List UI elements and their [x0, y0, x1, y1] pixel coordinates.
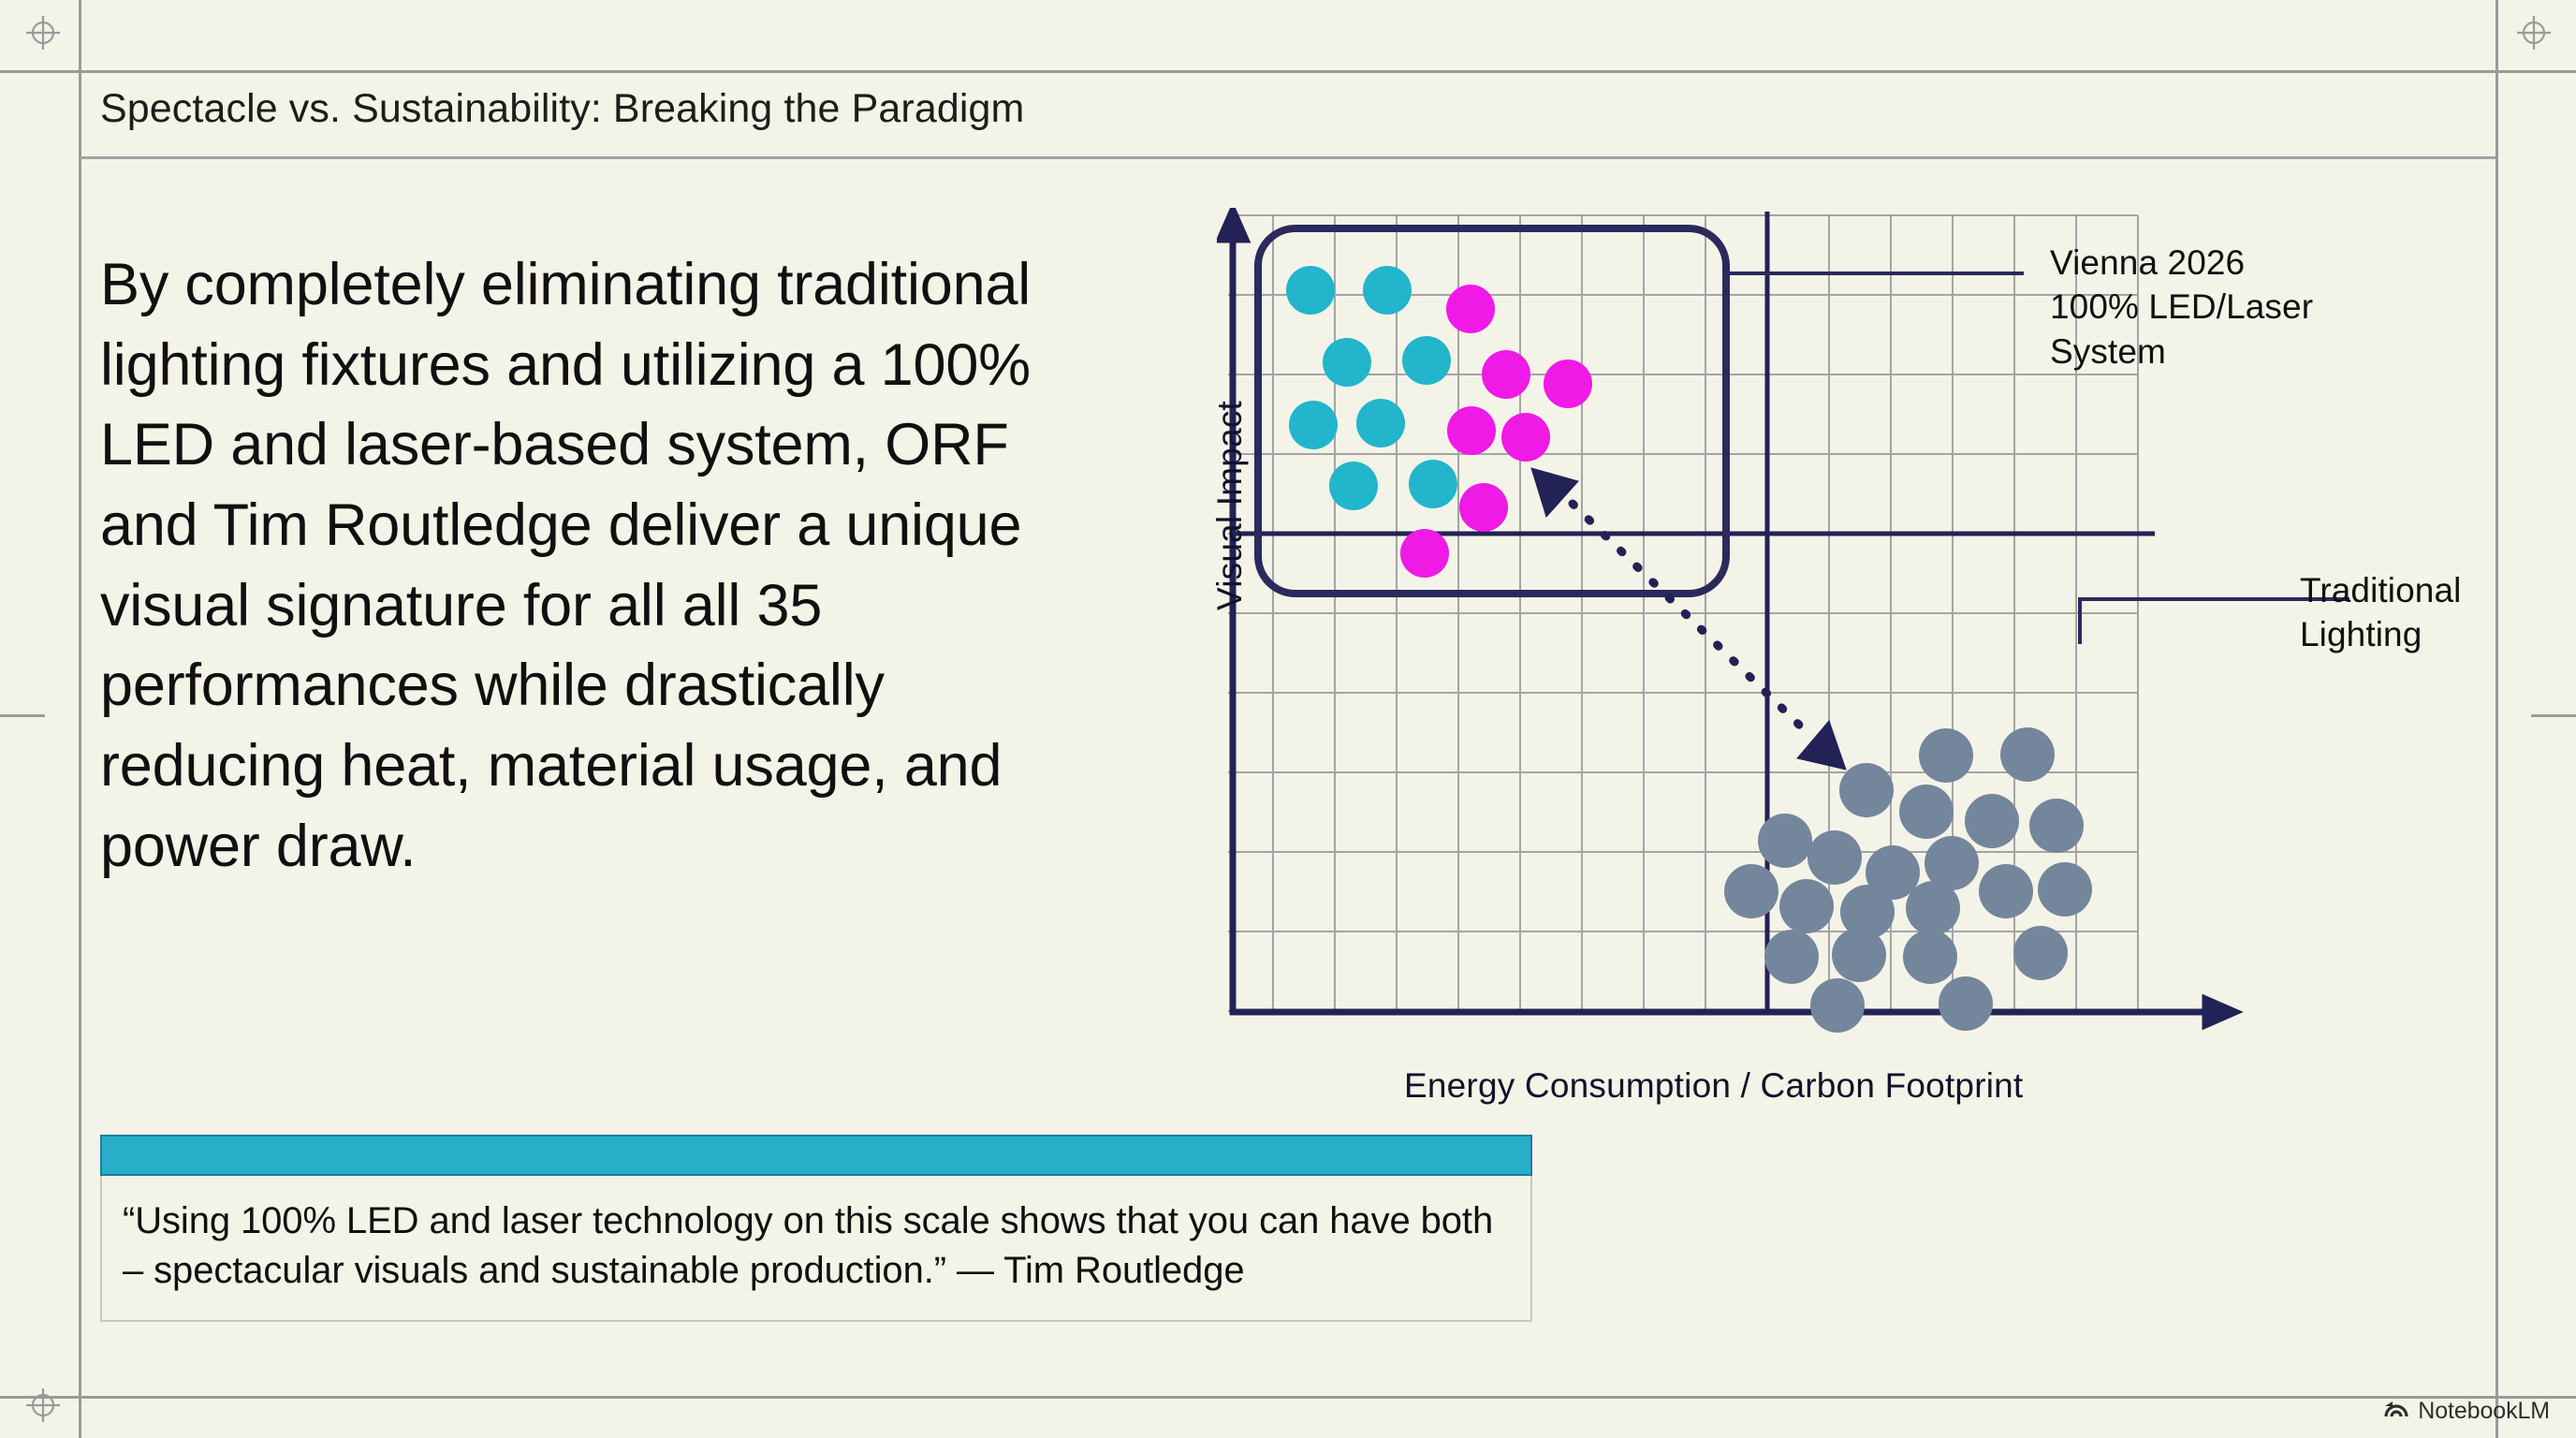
body-paragraph: By completely eliminating traditional li…	[100, 245, 1074, 887]
vienna-callout-line-1: Vienna 2026	[2050, 241, 2406, 285]
traditional-callout: Traditional Lighting	[2300, 568, 2576, 657]
vienna-callout: Vienna 2026 100% LED/Laser System	[2050, 241, 2406, 374]
comparison-arrow-icon	[1531, 468, 1846, 770]
notebooklm-label: NotebookLM	[2418, 1398, 2550, 1425]
quote-accent-bar	[100, 1135, 1532, 1176]
slide-canvas: Spectacle vs. Sustainability: Breaking t…	[0, 0, 2576, 1438]
vienna-callout-line-3: System	[2050, 330, 2406, 374]
notebooklm-icon	[2384, 1398, 2409, 1425]
title-divider	[80, 156, 2496, 159]
y-axis-label: Visual Impact	[1210, 401, 1250, 610]
registration-mark-bottom-left	[25, 1387, 61, 1423]
crop-guide-horizontal-mid-right	[2531, 714, 2576, 717]
registration-mark-top-right	[2516, 15, 2552, 51]
series-vienna-led	[1286, 266, 1457, 510]
vienna-callout-line-2: 100% LED/Laser	[2050, 285, 2406, 329]
quote-text: “Using 100% LED and laser technology on …	[100, 1176, 1532, 1322]
quote-block: “Using 100% LED and laser technology on …	[100, 1135, 1532, 1322]
traditional-callout-line-1: Traditional	[2300, 568, 2576, 612]
registration-mark-top-left	[25, 15, 61, 51]
crop-guide-horizontal-mid-left	[0, 714, 45, 717]
x-axis-label: Energy Consumption / Carbon Footprint	[1404, 1066, 2023, 1106]
traditional-callout-line-2: Lighting	[2300, 612, 2576, 656]
slide-content: Spectacle vs. Sustainability: Breaking t…	[80, 67, 2496, 1397]
page-title: Spectacle vs. Sustainability: Breaking t…	[100, 86, 1024, 132]
scatter-chart: Visual Impact Energy Consumption / Carbo…	[1217, 208, 2452, 1163]
notebooklm-brand: NotebookLM	[2384, 1398, 2550, 1425]
